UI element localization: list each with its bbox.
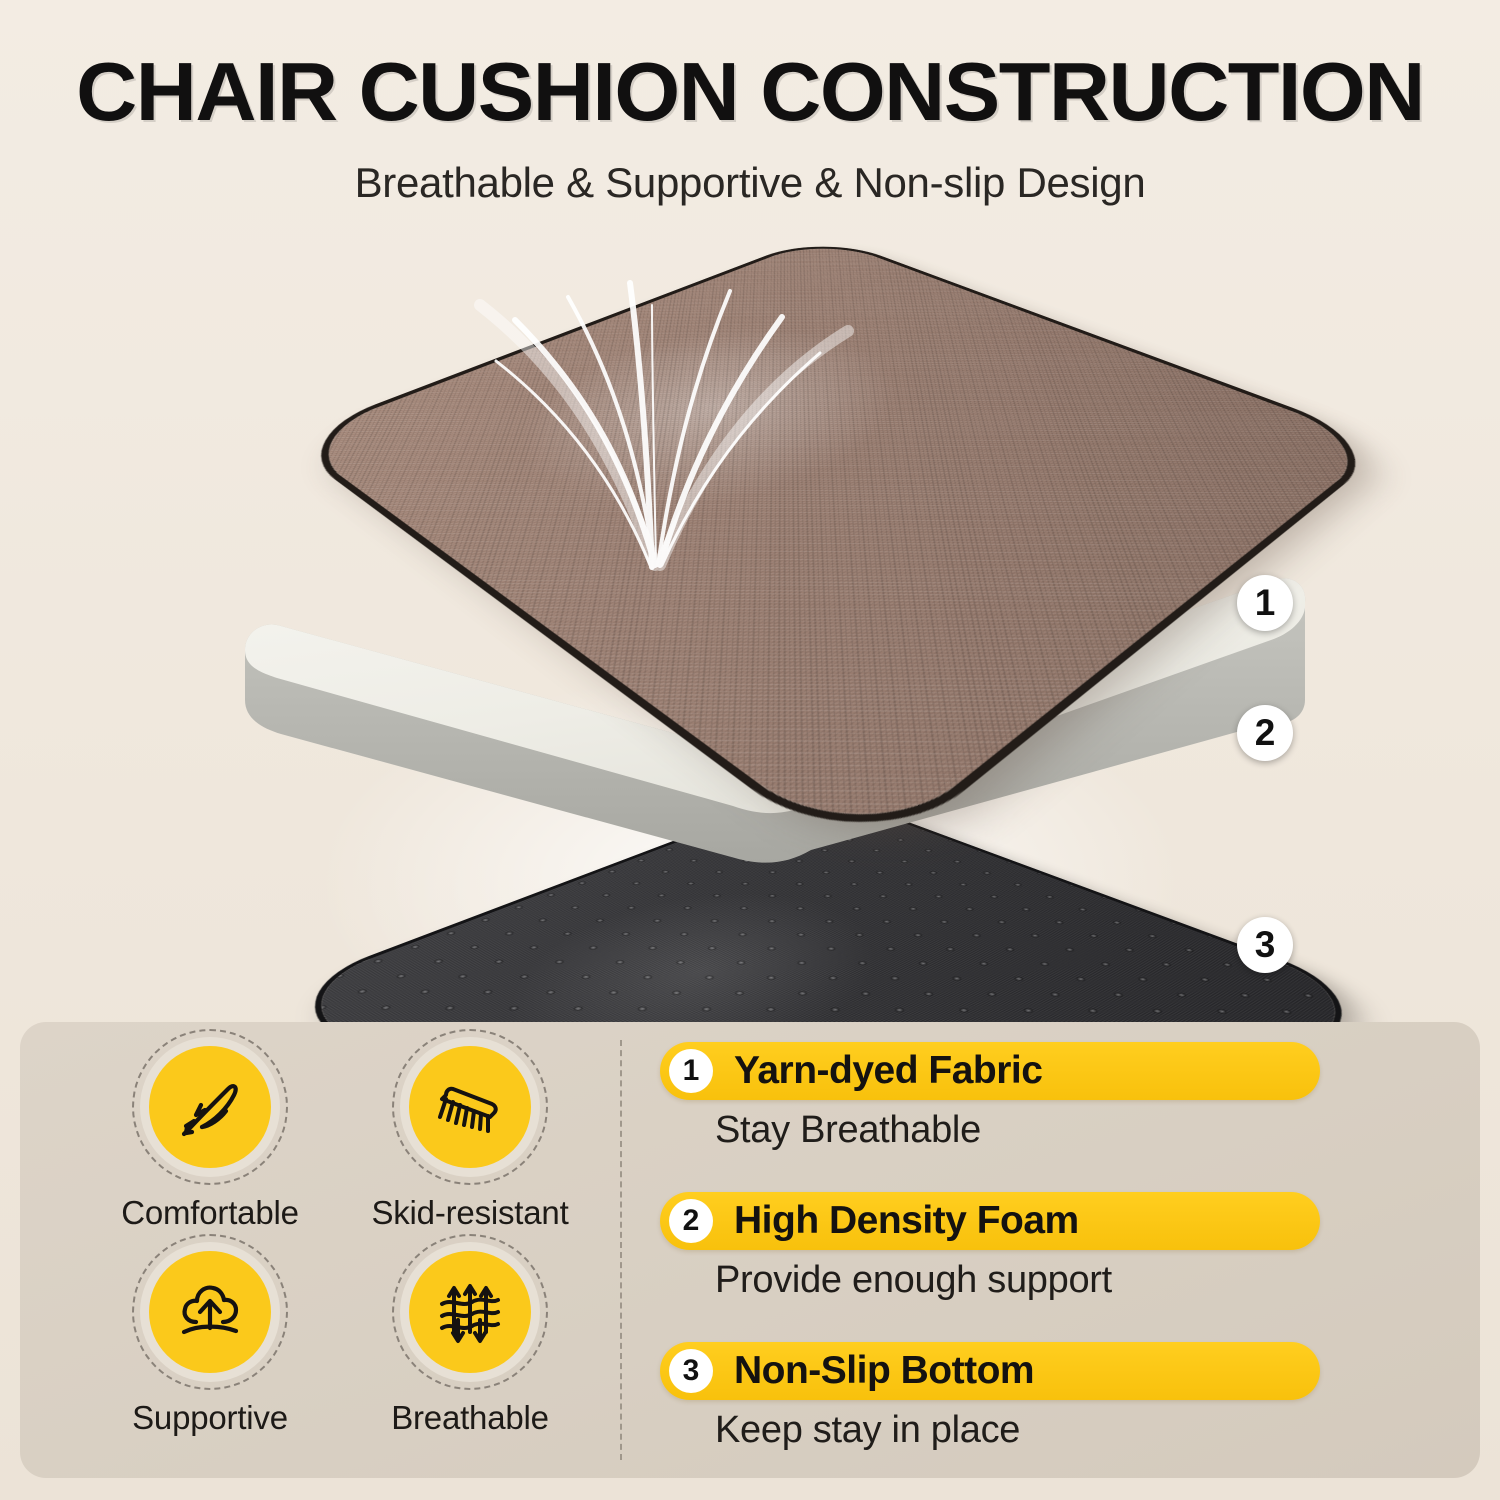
panel-divider — [620, 1040, 622, 1460]
feature-number-badge: 1 — [669, 1049, 713, 1093]
callout-badge-2: 2 — [1237, 705, 1293, 761]
feature-item-3[interactable]: 3 Non-Slip Bottom Keep stay in place — [660, 1342, 1320, 1452]
benefit-supportive[interactable]: Supportive — [80, 1251, 340, 1456]
benefit-label: Skid-resistant — [371, 1194, 568, 1232]
feature-pill: 1 Yarn-dyed Fabric — [660, 1042, 1320, 1100]
feature-subtitle: Stay Breathable — [715, 1109, 1320, 1152]
benefits-panel: Comfortable Skid-resistant — [20, 1022, 1480, 1478]
benefit-label: Supportive — [132, 1399, 288, 1437]
benefit-icon-grid: Comfortable Skid-resistant — [80, 1046, 600, 1456]
benefit-comfortable[interactable]: Comfortable — [80, 1046, 340, 1251]
feature-subtitle: Provide enough support — [715, 1259, 1320, 1302]
benefit-label: Breathable — [391, 1399, 549, 1437]
layer-yarn-dyed-fabric — [205, 215, 1335, 605]
page-subtitle: Breathable & Supportive & Non-slip Desig… — [0, 159, 1500, 207]
infographic-page: CHAIR CUSHION CONSTRUCTION Breathable & … — [0, 0, 1500, 1500]
cloud-up-arrow-icon — [149, 1251, 271, 1373]
feature-number-badge: 3 — [669, 1349, 713, 1393]
product-exploded-view: 1 2 3 — [0, 205, 1500, 1015]
airflow-arrows-icon — [409, 1251, 531, 1373]
feature-number-badge: 2 — [669, 1199, 713, 1243]
benefit-label: Comfortable — [121, 1194, 299, 1232]
benefit-skid-resistant[interactable]: Skid-resistant — [340, 1046, 600, 1251]
header: CHAIR CUSHION CONSTRUCTION Breathable & … — [0, 0, 1500, 207]
feature-title: Non-Slip Bottom — [734, 1349, 1034, 1393]
brush-bristles-icon — [409, 1046, 531, 1168]
feature-title: Yarn-dyed Fabric — [734, 1049, 1042, 1093]
feather-icon — [149, 1046, 271, 1168]
callout-badge-3: 3 — [1237, 917, 1293, 973]
feature-list: 1 Yarn-dyed Fabric Stay Breathable 2 Hig… — [660, 1042, 1450, 1462]
feature-item-1[interactable]: 1 Yarn-dyed Fabric Stay Breathable — [660, 1042, 1320, 1152]
page-title: CHAIR CUSHION CONSTRUCTION — [0, 50, 1500, 133]
callout-badge-1: 1 — [1237, 575, 1293, 631]
benefit-breathable[interactable]: Breathable — [340, 1251, 600, 1456]
feature-title: High Density Foam — [734, 1199, 1079, 1243]
feature-pill: 3 Non-Slip Bottom — [660, 1342, 1320, 1400]
feature-pill: 2 High Density Foam — [660, 1192, 1320, 1250]
feature-subtitle: Keep stay in place — [715, 1409, 1320, 1452]
feature-item-2[interactable]: 2 High Density Foam Provide enough suppo… — [660, 1192, 1320, 1302]
